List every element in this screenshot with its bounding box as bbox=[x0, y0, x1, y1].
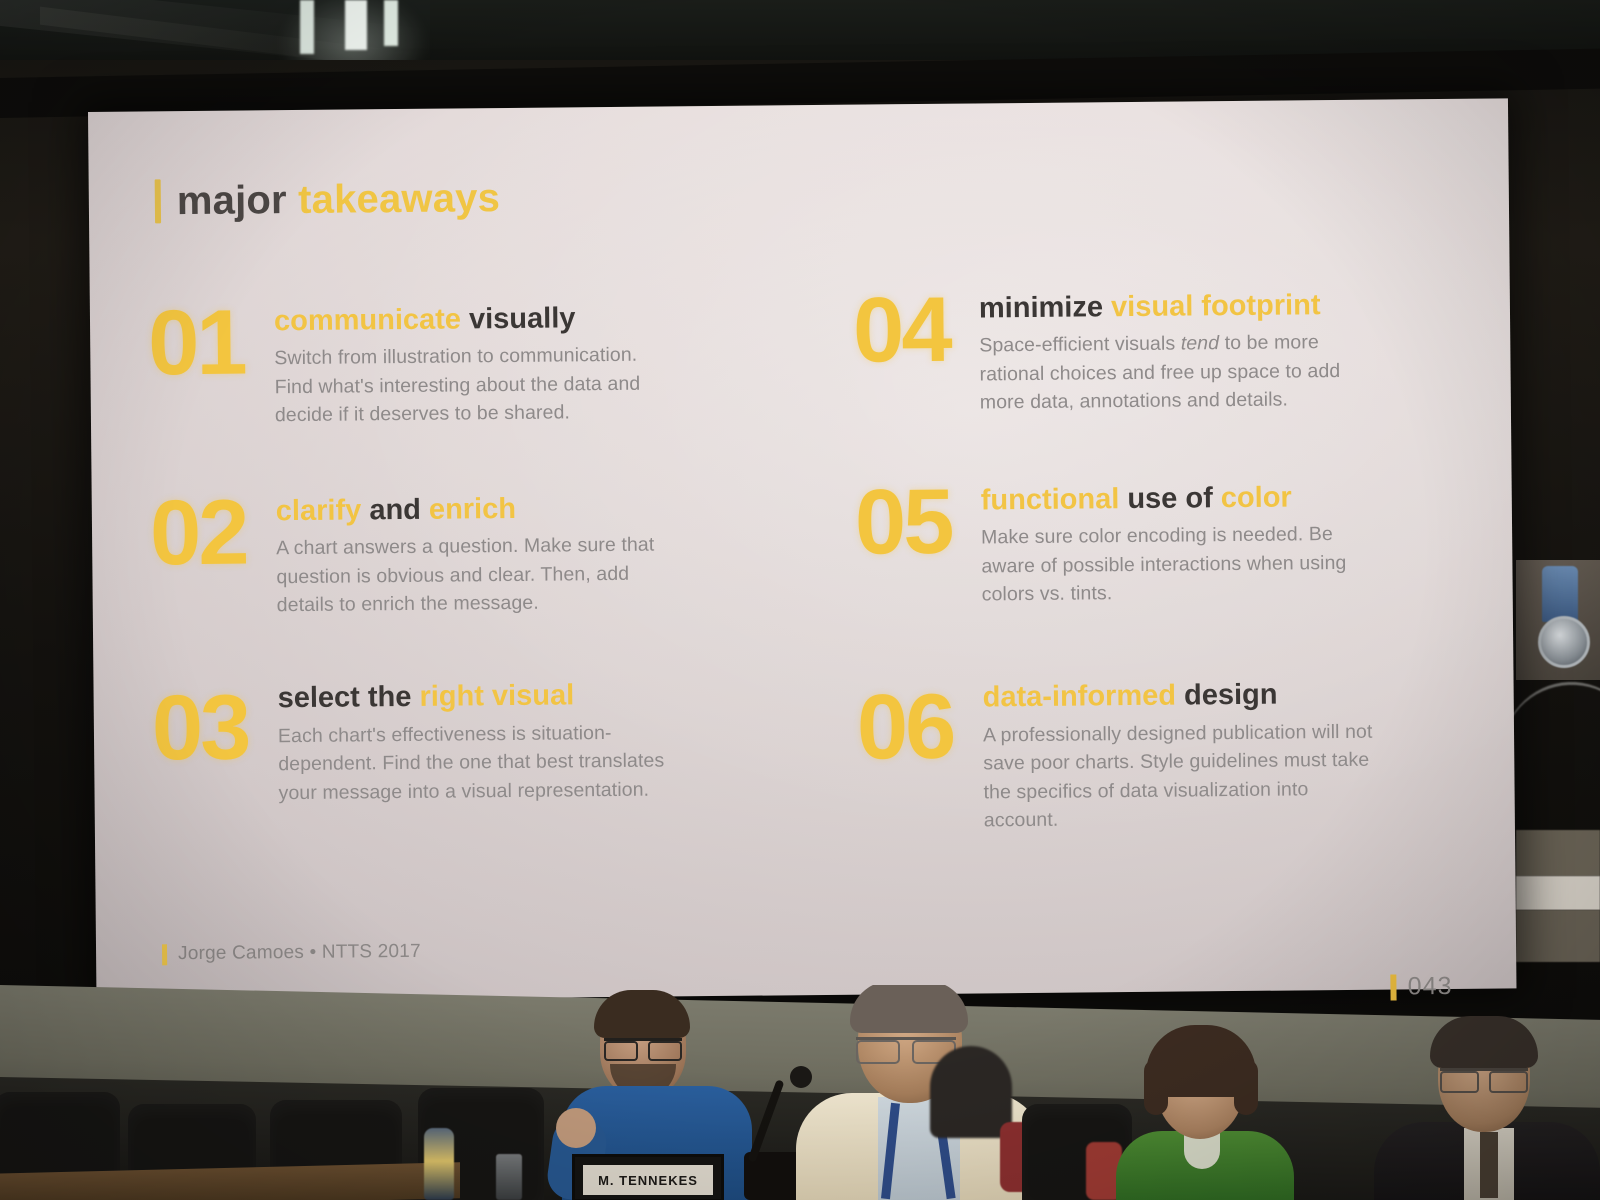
panelist-hair-side bbox=[1144, 1059, 1168, 1115]
heading-segment-dark: and bbox=[369, 494, 421, 526]
takeaway-item: 04 minimize visual footprint Space-effic… bbox=[853, 283, 1463, 419]
background-wall-band bbox=[1516, 876, 1600, 910]
slide-footer: Jorge Camoes • NTTS 2017 bbox=[162, 941, 421, 965]
title-accent-bar bbox=[155, 179, 161, 223]
table-nameplate: M. TENNEKES bbox=[572, 1154, 724, 1200]
takeaways-column-left: 01 communicate visually Switch from illu… bbox=[148, 296, 762, 867]
takeaway-description: Switch from illustration to communicatio… bbox=[274, 341, 675, 430]
background-wall-band bbox=[1516, 910, 1600, 962]
heading-segment-dark: use of bbox=[1127, 482, 1213, 515]
takeaway-item: 06 data-informed design A professionally… bbox=[856, 672, 1466, 836]
panelist-hand bbox=[556, 1108, 596, 1148]
panelist-glasses bbox=[856, 1037, 956, 1053]
heading-segment-dark: design bbox=[1184, 679, 1278, 712]
ceiling-light-strip bbox=[300, 0, 314, 54]
heading-segment-accent: color bbox=[1221, 481, 1292, 514]
title-word-primary: major bbox=[177, 178, 287, 223]
ceiling-light-strip bbox=[345, 0, 367, 50]
takeaway-description: Make sure color encoding is needed. Be a… bbox=[981, 520, 1382, 609]
background-equipment bbox=[1516, 560, 1600, 680]
takeaway-number: 05 bbox=[855, 479, 982, 565]
panelist-dark-suit bbox=[1382, 1010, 1592, 1200]
background-wall-band bbox=[1516, 830, 1600, 876]
takeaway-description: A professionally designed publication wi… bbox=[983, 717, 1384, 835]
takeaways-column-right: 04 minimize visual footprint Space-effic… bbox=[853, 289, 1467, 860]
panelist-hair-side bbox=[1234, 1059, 1258, 1115]
footer-accent-bar bbox=[162, 944, 167, 965]
heading-segment-dark: select the bbox=[277, 681, 411, 714]
ceiling-light-strip bbox=[384, 0, 398, 46]
panelist-blue-shirt: M. TENNEKES bbox=[556, 990, 761, 1200]
heading-segment-dark: minimize bbox=[979, 291, 1103, 324]
heading-segment-accent: communicate bbox=[274, 303, 461, 337]
takeaway-heading: clarify and enrich bbox=[276, 491, 759, 527]
panelist-green-top bbox=[1108, 1015, 1298, 1200]
takeaway-description: Each chart's effectiveness is situation-… bbox=[278, 718, 679, 807]
heading-segment-accent: functional bbox=[981, 483, 1120, 516]
panelist-tie bbox=[1480, 1132, 1498, 1198]
footer-credit: Jorge Camoes • NTTS 2017 bbox=[178, 941, 421, 965]
takeaway-item: 05 functional use of color Make sure col… bbox=[855, 475, 1465, 611]
panelist-glasses bbox=[1440, 1068, 1528, 1082]
water-bottle bbox=[424, 1128, 454, 1200]
heading-segment-accent: data-informed bbox=[983, 680, 1177, 714]
takeaway-item: 03 select the right visual Each chart's … bbox=[151, 673, 761, 809]
description-text-pre: Space-efficient visuals bbox=[979, 333, 1181, 357]
panelist-glasses bbox=[604, 1038, 682, 1052]
description-text-emphasis: tend bbox=[1181, 332, 1220, 354]
panelist-hair bbox=[850, 985, 968, 1033]
drinking-glass bbox=[496, 1154, 522, 1200]
takeaway-number: 04 bbox=[853, 287, 980, 373]
heading-segment-accent: visual footprint bbox=[1111, 289, 1321, 323]
slide-title: major takeaways bbox=[155, 167, 1453, 223]
takeaway-number: 01 bbox=[148, 300, 275, 386]
takeaway-item: 02 clarify and enrich A chart answers a … bbox=[150, 485, 760, 621]
takeaway-heading: communicate visually bbox=[274, 302, 757, 338]
conference-room-photo: major takeaways 01 communicate visually bbox=[0, 0, 1600, 1200]
takeaway-heading: functional use of color bbox=[981, 481, 1464, 517]
takeaway-number: 03 bbox=[151, 678, 278, 772]
heading-segment-accent: clarify bbox=[276, 494, 362, 527]
background-person bbox=[930, 1046, 1012, 1138]
nameplate-text: M. TENNEKES bbox=[583, 1165, 713, 1195]
takeaway-heading: data-informed design bbox=[983, 678, 1466, 714]
takeaway-heading: minimize visual footprint bbox=[979, 289, 1462, 325]
takeaway-number: 06 bbox=[856, 677, 983, 771]
takeaways-grid: 01 communicate visually Switch from illu… bbox=[148, 289, 1467, 867]
panelist-hair bbox=[594, 990, 690, 1038]
takeaway-description: A chart answers a question. Make sure th… bbox=[276, 530, 677, 619]
background-clock-dial bbox=[1538, 616, 1590, 668]
title-word-accent: takeaways bbox=[298, 176, 500, 222]
panel-foreground: M. TENNEKES bbox=[0, 985, 1600, 1200]
takeaway-item: 01 communicate visually Switch from illu… bbox=[148, 296, 758, 432]
projected-slide: major takeaways 01 communicate visually bbox=[88, 98, 1516, 1002]
takeaway-heading: select the right visual bbox=[277, 679, 760, 715]
panelist-hair bbox=[1430, 1016, 1538, 1068]
heading-segment-dark: visually bbox=[469, 302, 576, 335]
heading-segment-accent: right visual bbox=[419, 680, 574, 713]
takeaway-description: Space-efficient visuals tend to be more … bbox=[979, 328, 1380, 417]
takeaway-number: 02 bbox=[150, 490, 277, 576]
background-blue-object bbox=[1542, 566, 1578, 622]
heading-segment-accent: enrich bbox=[429, 493, 516, 526]
